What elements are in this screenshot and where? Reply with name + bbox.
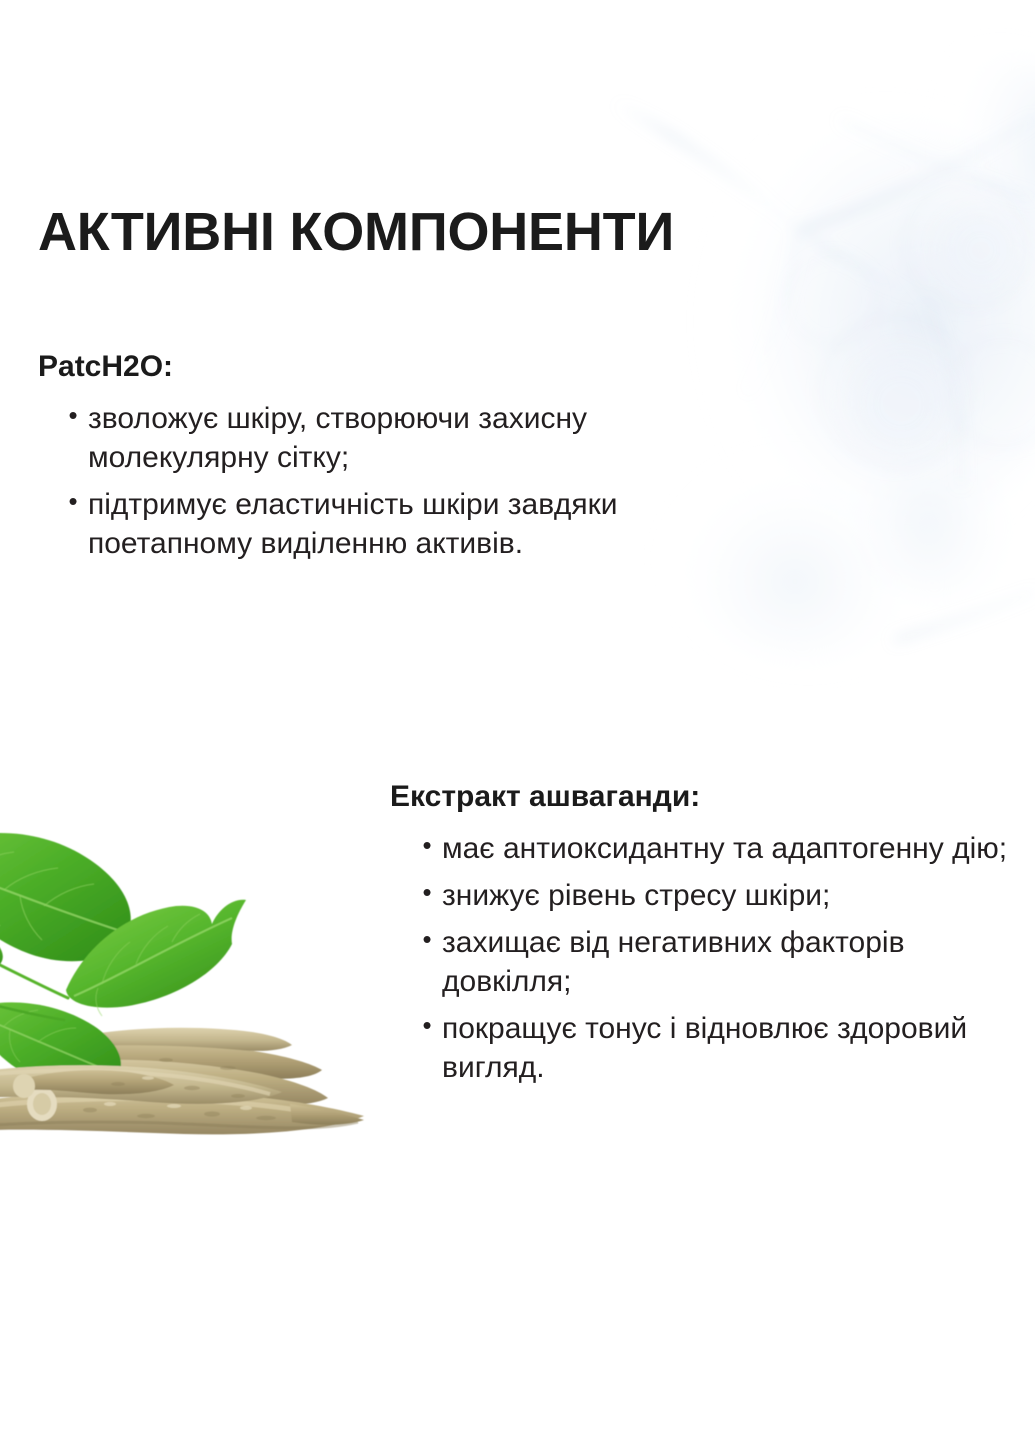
section-patch2o: PatcH2O: • зволожує шкіру, створюючи зах… [38,350,738,563]
list-item-text: знижує рівень стресу шкіри; [442,876,1035,915]
section-ashwagandha: Екстракт ашваганди: • має антиоксидантну… [390,780,1035,1087]
bullet-dot-icon: • [412,876,442,910]
list-item: • має антиоксидантну та адаптогенну дію; [412,829,1035,868]
list-item-text: захищає від негативних факторів довкілля… [442,923,1035,1001]
section-heading-ashwagandha: Екстракт ашваганди: [390,780,1035,815]
list-item: • покращує тонус і відновлює здоровий ви… [412,1009,1035,1087]
list-item: • захищає від негативних факторів довкіл… [412,923,1035,1001]
section-heading-patch2o: PatcH2O: [38,350,738,385]
list-item-text: зволожує шкіру, створюючи захисну молеку… [88,399,738,477]
list-item: • підтримує еластичність шкіри завдяки п… [58,485,738,563]
bullet-dot-icon: • [412,1009,442,1043]
ashwagandha-root-and-leaves-photo [0,812,380,1192]
bullet-dot-icon: • [412,923,442,957]
list-item: • зволожує шкіру, створюючи захисну моле… [58,399,738,477]
list-item-text: має антиоксидантну та адаптогенну дію; [442,829,1035,868]
bullet-dot-icon: • [412,829,442,863]
bullet-list-patch2o: • зволожує шкіру, створюючи захисну моле… [38,399,738,563]
list-item-text: підтримує еластичність шкіри завдяки пое… [88,485,738,563]
bullet-dot-icon: • [58,399,88,433]
page-title: АКТИВНІ КОМПОНЕНТИ [38,205,674,259]
bullet-list-ashwagandha: • має антиоксидантну та адаптогенну дію;… [390,829,1035,1087]
bullet-dot-icon: • [58,485,88,519]
list-item: • знижує рівень стресу шкіри; [412,876,1035,915]
list-item-text: покращує тонус і відновлює здоровий вигл… [442,1009,1035,1087]
